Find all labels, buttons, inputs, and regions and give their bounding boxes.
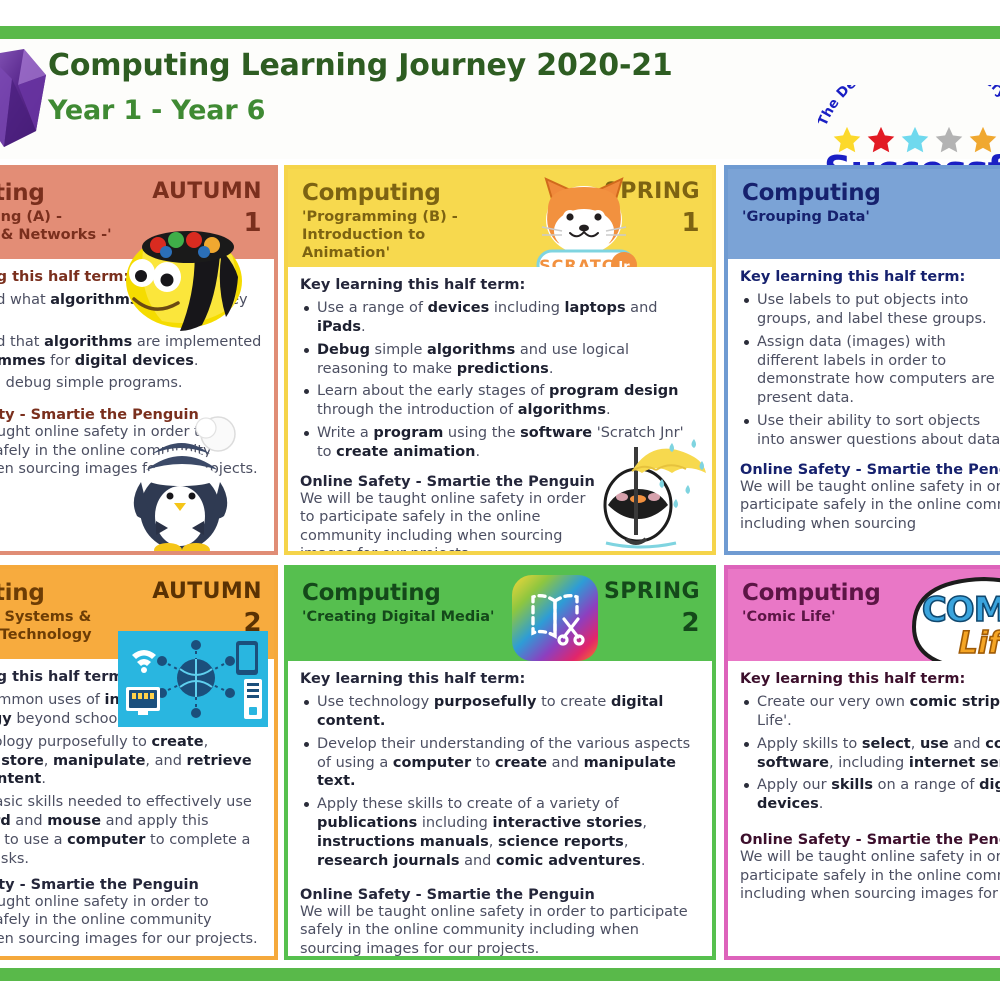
list-item: Identify common uses of information tech… (0, 691, 262, 729)
card-term-number: 2 (604, 610, 700, 636)
list-item: Create our very own comic strip using 'C… (757, 693, 1000, 731)
key-learning-heading: Key learning this half term: (0, 269, 262, 285)
online-safety-text: We will be taught online safety in order… (740, 478, 1000, 534)
card-header: Computing 'Comic Life' COMIC Life (728, 569, 1000, 661)
svg-text:Life: Life (959, 626, 1000, 661)
card-body: Key learning this half term: Use technol… (288, 661, 712, 960)
poster-header: Computing Learning Journey 2020-21 Year … (0, 39, 1000, 159)
learning-journey-poster: Computing Learning Journey 2020-21 Year … (0, 0, 1000, 1000)
key-learning-heading: Key learning this half term: (300, 671, 700, 687)
online-safety-heading: Online Safety - Smartie the Penguin (300, 474, 700, 490)
online-safety-heading: Online Safety - Smartie the Penguin (740, 832, 1000, 848)
card-term: SPRING 2 (604, 579, 700, 636)
card-header: Computing 'Computing Systems & Networks … (0, 569, 274, 659)
title-block: Computing Learning Journey 2020-21 Year … (48, 51, 673, 124)
list-item: Write a program using the software 'Scra… (317, 424, 700, 462)
list-item: Apply these skills to create of a variet… (317, 795, 700, 870)
card-unit: 'Programming (A) - Algorithms & Networks… (0, 208, 136, 244)
card-subject: Computing (742, 581, 1000, 605)
card-subject: Computing (742, 181, 1000, 205)
list-item: Develop basic skills needed to effective… (0, 793, 262, 868)
top-green-rule (0, 26, 1000, 39)
card-header: Computing 'Programming (B) - Introductio… (288, 169, 712, 267)
list-item: Debug simple algorithms and use logical … (317, 341, 700, 379)
svg-text:SCRATCH: SCRATCH (539, 256, 629, 267)
list-item: Learn about the early stages of program … (317, 382, 700, 420)
card-term: AUTUMN 1 (152, 179, 262, 236)
online-safety-heading: Online Safety - Smartie the Penguin (300, 887, 700, 903)
card-autumn-2[interactable]: Computing 'Computing Systems & Networks … (0, 565, 278, 960)
online-safety-text: We will be taught online safety in order… (740, 848, 1000, 904)
card-header: Computing 'Creating Digital Media' SPRIN… (288, 569, 712, 661)
page-title: Computing Learning Journey 2020-21 (48, 51, 673, 81)
list-item: Use their ability to sort objects into a… (757, 412, 1000, 450)
card-header: Computing 'Grouping Data' (728, 169, 1000, 259)
card-body: Key learning this half term: Use labels … (728, 259, 1000, 541)
online-safety-heading: Online Safety - Smartie the Penguin (0, 877, 262, 893)
list-item: Create and debug simple programs. (0, 374, 262, 393)
card-header: Computing 'Programming (A) - Algorithms … (0, 169, 274, 259)
online-safety-text: We will be taught online safety in order… (300, 903, 700, 959)
list-item: Understand that algorithms are implement… (0, 333, 262, 371)
list-item: Use a range of devices including laptops… (317, 299, 700, 337)
list-item: Apply skills to select, use and combine … (757, 735, 1000, 773)
card-unit: 'Grouping Data' (742, 208, 972, 226)
page-subtitle: Year 1 - Year 6 (48, 97, 673, 124)
list-item: Use technology purposefully to create di… (317, 693, 700, 731)
online-safety-heading: Online Safety - Smartie the Penguin (0, 407, 262, 423)
card-term-number: 1 (604, 210, 700, 236)
card-unit: 'Computing Systems & Networks - Technolo… (0, 608, 116, 659)
card-comic-life[interactable]: Computing 'Comic Life' COMIC Life Key le… (724, 565, 1000, 960)
key-learning-heading: Key learning this half term: (740, 671, 1000, 687)
online-safety-text: We will be taught online safety in order… (300, 490, 590, 555)
card-term: AUTUMN 2 (152, 579, 262, 636)
online-safety-heading: Online Safety - Smartie the Penguin (740, 462, 1000, 478)
key-learning-list: Identify common uses of information tech… (0, 691, 262, 869)
svg-text:The Devonshire Hill Nursery: The Devonshire Hill Nursery (818, 85, 1000, 128)
card-grouping-data[interactable]: Computing 'Grouping Data' Key learning t… (724, 165, 1000, 555)
key-learning-heading: Key learning this half term: (740, 269, 1000, 285)
list-item: Develop their understanding of the vario… (317, 735, 700, 792)
list-item: Understand what algorithms and what they… (0, 291, 262, 329)
card-unit: 'Creating Digital Media' (302, 608, 532, 626)
card-term-number: 1 (152, 210, 262, 236)
list-item: Use technology purposefully to create, o… (0, 733, 262, 790)
key-learning-list: Understand what algorithms and what they… (0, 291, 262, 393)
card-unit: 'Comic Life' (742, 608, 972, 626)
card-term-number: 2 (152, 610, 262, 636)
card-spring-2[interactable]: Computing 'Creating Digital Media' SPRIN… (284, 565, 716, 960)
list-item: Assign data (images) with different labe… (757, 333, 1000, 408)
card-body: Key learning this half term: Use a range… (288, 267, 712, 555)
list-item: Apply our skills on a range of digital d… (757, 776, 1000, 814)
card-autumn-1[interactable]: Computing 'Programming (A) - Algorithms … (0, 165, 278, 555)
card-body: Key learning this half term: Create our … (728, 661, 1000, 912)
key-learning-list: Use labels to put objects into groups, a… (740, 291, 1000, 450)
svg-text:Jr: Jr (617, 260, 630, 267)
card-body: Key learning this half term: Identify co… (0, 659, 274, 956)
card-term: SPRING 1 (604, 179, 700, 236)
online-safety-text: We will be taught online safety in order… (0, 893, 262, 949)
card-body: Key learning this half term: Understand … (0, 259, 274, 487)
key-learning-heading: Key learning this half term: (0, 669, 262, 685)
bottom-green-rule (0, 968, 1000, 981)
online-safety-text: We will be taught online safety in order… (0, 423, 262, 479)
key-learning-list: Use technology purposefully to create di… (300, 693, 700, 871)
card-grid: Computing 'Programming (A) - Algorithms … (0, 165, 1000, 960)
key-learning-list: Create our very own comic strip using 'C… (740, 693, 1000, 814)
key-learning-list: Use a range of devices including laptops… (300, 299, 700, 462)
card-unit: 'Programming (B) - Introduction to Anima… (302, 208, 502, 262)
key-learning-heading: Key learning this half term: (300, 277, 700, 293)
card-spring-1[interactable]: Computing 'Programming (B) - Introductio… (284, 165, 716, 555)
list-item: Use labels to put objects into groups, a… (757, 291, 1000, 329)
